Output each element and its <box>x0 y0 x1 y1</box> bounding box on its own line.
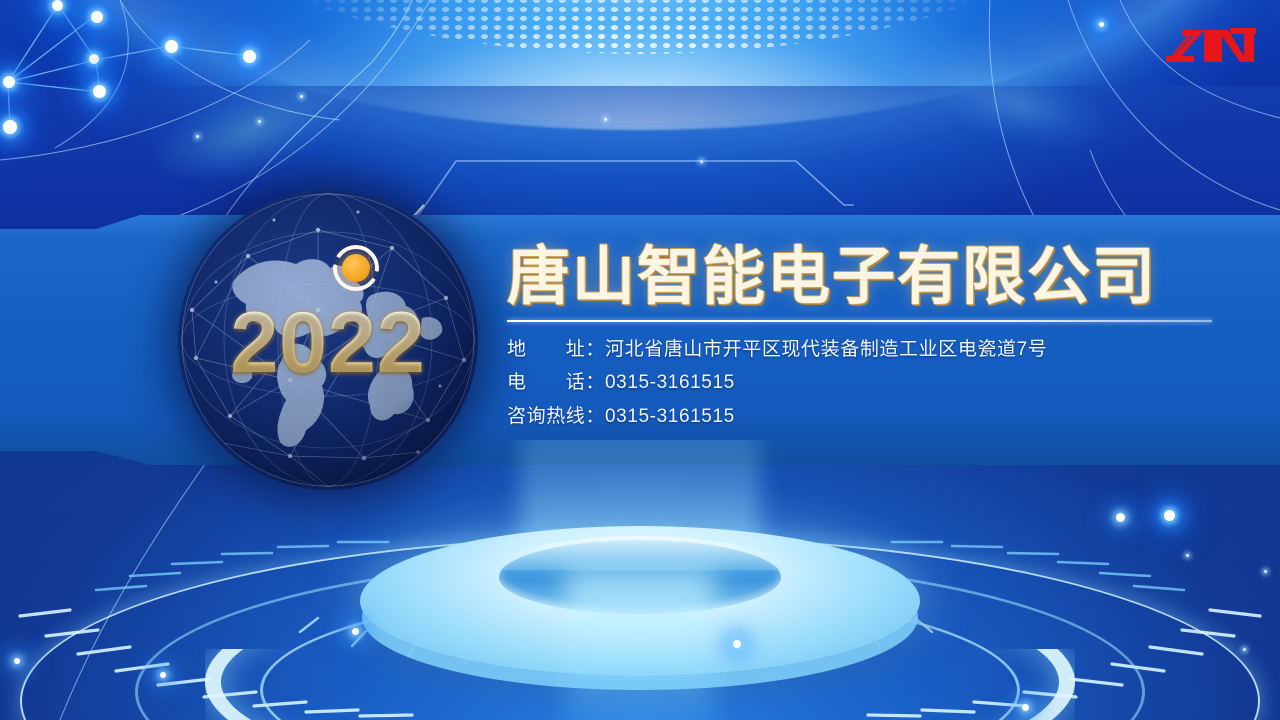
poster-canvas: 2022 唐山智能电子有限公司 地 址：河北省唐山市开平区现代装备制造工业区电瓷… <box>0 0 1280 720</box>
company-name: 唐山智能电子有限公司 <box>507 243 1247 311</box>
star-speck <box>300 95 303 98</box>
network-node <box>89 54 99 64</box>
address-label: 地 址： <box>507 333 605 366</box>
phone-value: 0315-3161515 <box>605 372 735 393</box>
zn-logo-icon <box>1160 20 1256 72</box>
network-node <box>165 40 178 53</box>
center-glow <box>565 570 715 720</box>
star-speck <box>196 135 199 138</box>
contact-line-phone: 电 话：0315-3161515 <box>507 366 1247 399</box>
network-node <box>93 85 106 98</box>
glow-star <box>14 658 20 664</box>
hotline-label: 咨询热线： <box>507 400 605 433</box>
address-value: 河北省唐山市开平区现代装备制造工业区电瓷道7号 <box>605 339 1047 360</box>
glow-star <box>733 640 741 648</box>
location-marker-dot <box>342 254 370 282</box>
glow-star <box>1116 513 1125 522</box>
title-divider <box>507 320 1212 322</box>
network-node <box>3 120 17 134</box>
contact-line-hotline: 咨询热线：0315-3161515 <box>507 400 1247 433</box>
tech-platform <box>0 440 1280 720</box>
contact-line-address: 地 址：河北省唐山市开平区现代装备制造工业区电瓷道7号 <box>507 333 1247 366</box>
phone-label: 电 话： <box>507 366 605 399</box>
star-speck <box>258 120 261 123</box>
year-label: 2022 <box>178 300 478 386</box>
network-node <box>3 76 15 88</box>
network-node <box>1099 22 1104 27</box>
network-node <box>52 0 63 11</box>
hotline-value: 0315-3161515 <box>605 406 735 427</box>
glow-star <box>160 672 166 678</box>
glow-star <box>352 628 359 635</box>
company-info-block: 唐山智能电子有限公司 地 址：河北省唐山市开平区现代装备制造工业区电瓷道7号 电… <box>507 243 1247 433</box>
network-node <box>243 50 256 63</box>
star-speck <box>604 118 607 121</box>
network-node <box>91 11 103 23</box>
glow-star <box>1022 704 1029 711</box>
